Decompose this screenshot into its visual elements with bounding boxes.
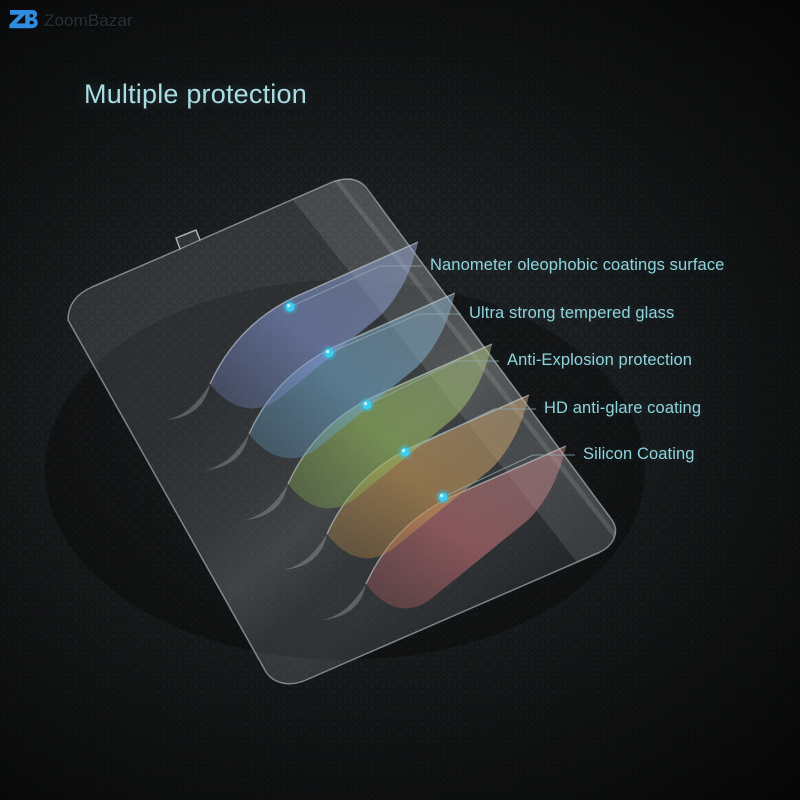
callout-label-hd-anti-glare-coating: HD anti-glare coating (544, 399, 701, 418)
callout-label-anti-explosion-protection: Anti-Explosion protection (507, 351, 692, 370)
callout-label-nanometer-oleophobic: Nanometer oleophobic coatings surface (430, 256, 724, 275)
callout-label-ultra-strong-tempered-glass: Ultra strong tempered glass (469, 304, 674, 323)
callout-dot-2 (322, 346, 337, 361)
callout-label-silicon-coating: Silicon Coating (583, 445, 695, 464)
callout-dot-1 (283, 300, 298, 315)
callout-dot-5 (436, 490, 451, 505)
product-feature-image: ZoomBazar Multiple protection (0, 0, 800, 800)
callout-dot-3 (360, 398, 375, 413)
zb-monogram-logo-icon (8, 8, 38, 34)
brand-name: ZoomBazar (44, 11, 133, 31)
callout-dot-4 (398, 445, 413, 460)
brand-logo[interactable]: ZoomBazar (8, 8, 133, 34)
page-title: Multiple protection (84, 79, 307, 110)
